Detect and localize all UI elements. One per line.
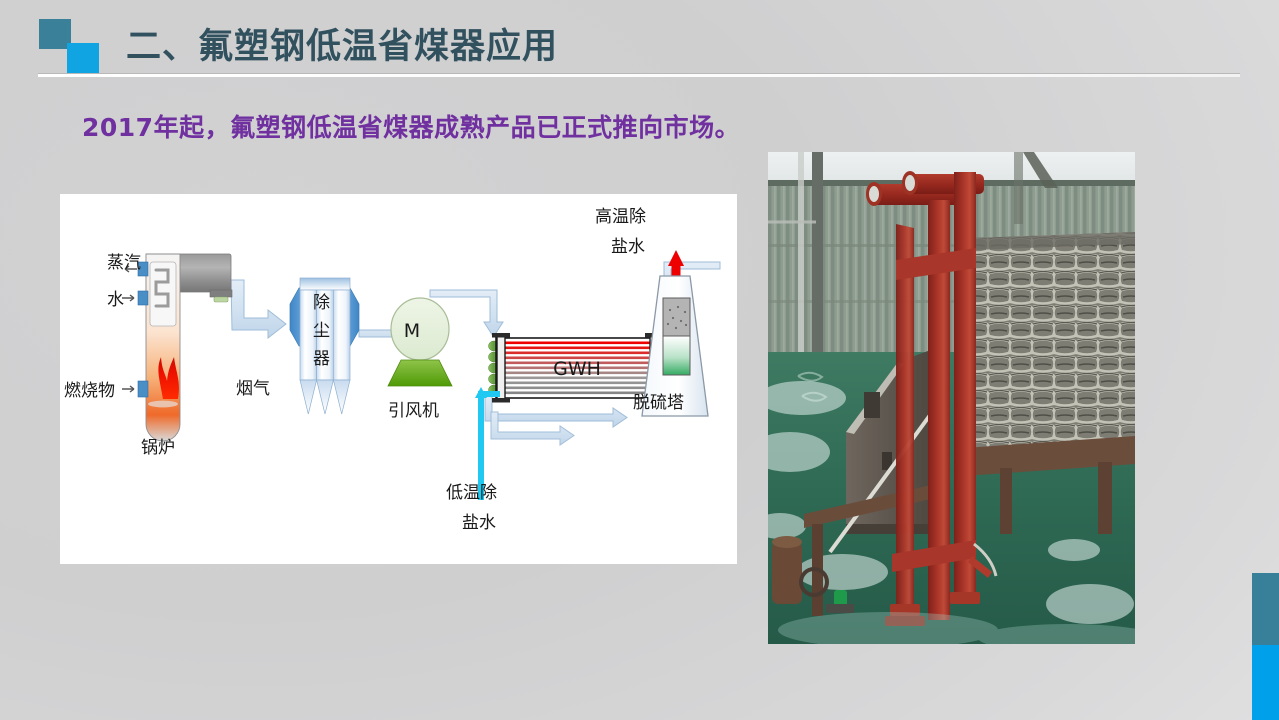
label-high-temp-demin-2: 盐水 — [611, 237, 645, 257]
label-dust-collector-3: 器 — [313, 349, 330, 369]
process-flow-diagram: 蒸汽 水 燃烧物 锅炉 烟气 除 尘 器 M 引风机 — [60, 194, 737, 564]
label-low-temp-demin-1: 低温除 — [446, 483, 497, 503]
label-water: 水 — [107, 290, 124, 310]
boiler-unit — [122, 254, 232, 441]
page-title: 二、氟塑钢低温省煤器应用 — [126, 18, 558, 69]
logo-square-bright — [67, 43, 99, 73]
slide-logo — [39, 19, 109, 67]
label-boiler: 锅炉 — [141, 438, 175, 458]
edge-accent-bar — [1252, 573, 1279, 720]
label-high-temp-demin-1: 高温除 — [595, 207, 646, 227]
photo-coil-bundle — [972, 232, 1135, 452]
label-dust-collector-1: 除 — [313, 293, 330, 313]
label-induced-draft-fan: 引风机 — [388, 401, 439, 421]
label-fan-motor: M — [404, 320, 420, 342]
label-dust-collector-2: 尘 — [313, 321, 330, 341]
label-desulfurization-tower: 脱硫塔 — [633, 393, 684, 413]
edge-accent-top — [1252, 573, 1279, 645]
slide-subtitle: 2017年起，氟塑钢低温省煤器成熟产品已正式推向市场。 — [82, 108, 740, 144]
label-steam: 蒸汽 — [107, 253, 141, 273]
induced-draft-fan — [388, 298, 452, 386]
label-gwh: GWH — [553, 358, 601, 380]
edge-accent-bottom — [1252, 645, 1279, 720]
label-fuel: 燃烧物 — [64, 381, 115, 401]
label-low-temp-demin-2: 盐水 — [462, 513, 496, 533]
site-installation-photo — [768, 152, 1135, 644]
header-divider — [38, 74, 1240, 77]
photo-column — [812, 152, 823, 367]
label-flue-gas: 烟气 — [236, 379, 270, 399]
